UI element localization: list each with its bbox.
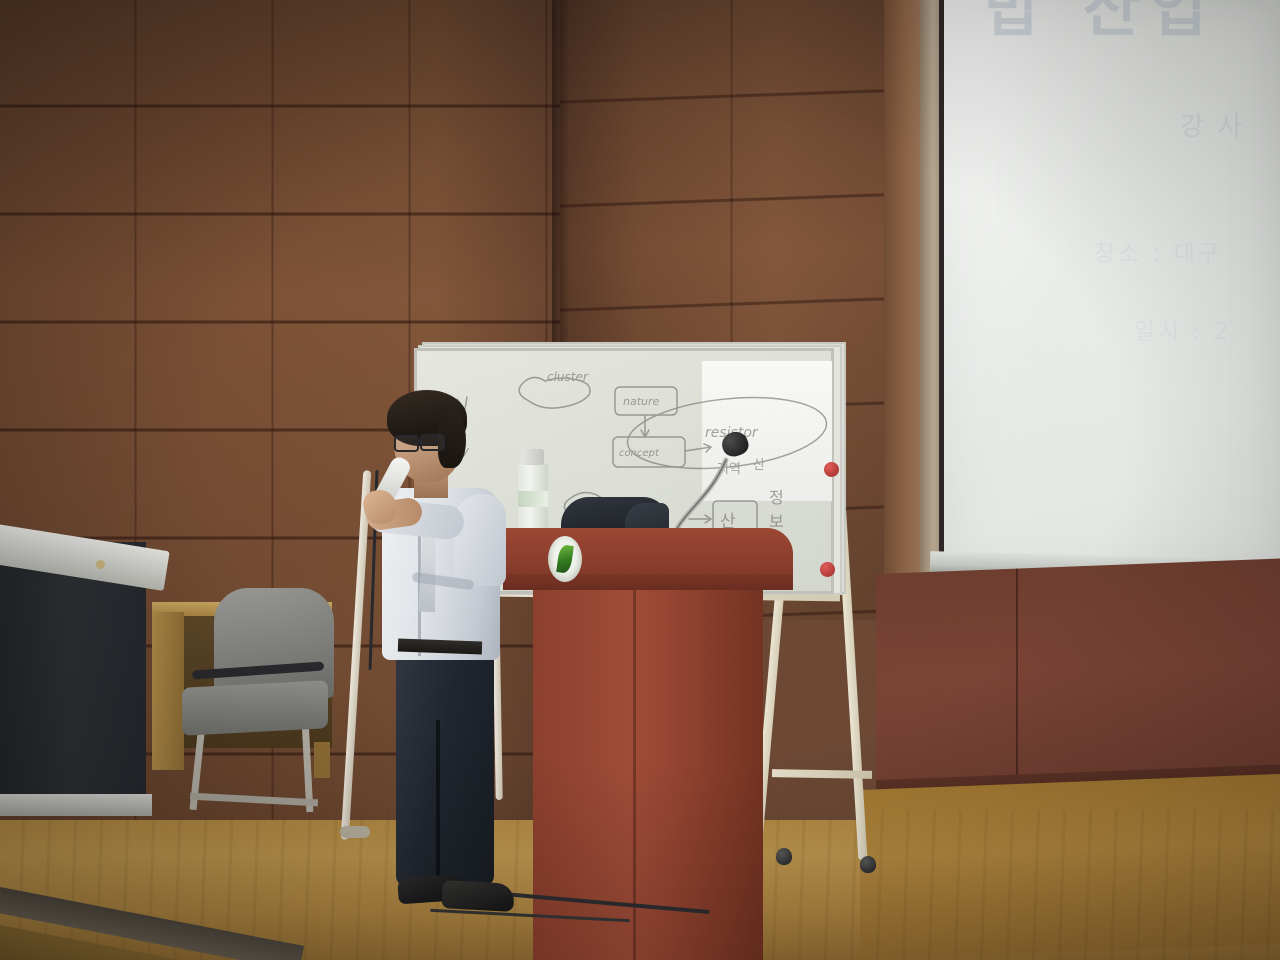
chair-foot-rail — [190, 793, 318, 807]
eyeglasses-lens-left — [394, 435, 419, 452]
slide-title: 밥 산업 — [984, 0, 1280, 48]
leaf-shape-icon — [556, 544, 574, 574]
easel-knob-lower[interactable] — [820, 562, 835, 577]
lectern-base — [0, 794, 152, 816]
speaker-trousers — [396, 648, 494, 886]
easel-caster-right — [860, 856, 876, 873]
screen-glare — [944, 0, 1280, 578]
speaker-leg-separation — [436, 720, 440, 888]
projection-screen: 밥 산업 강 사 장소 : 대구 일시 : 2 — [944, 0, 1280, 578]
speaker-presenter — [358, 390, 558, 930]
svg-text:정: 정 — [769, 488, 784, 507]
speaker-shoe-right — [441, 880, 514, 912]
gray-upholstered-chair — [186, 588, 346, 806]
table-side-panel — [152, 612, 184, 770]
svg-text:cluster: cluster — [547, 370, 589, 384]
slide-date-line: 일시 : 2 — [1134, 312, 1231, 346]
dark-control-lectern — [0, 522, 174, 818]
slide-speaker-line: 강 사 — [1180, 106, 1245, 143]
eyeglasses-lens-right — [420, 434, 445, 451]
lectern-knob — [96, 560, 105, 569]
speaker-shirt-shoulder — [454, 494, 506, 586]
chair-seat — [182, 680, 328, 736]
wall-panel-seam — [1016, 569, 1018, 799]
eyeglasses-bridge — [418, 440, 423, 443]
svg-text:nature: nature — [623, 395, 660, 408]
lecture-hall-photo: 밥 산업 강 사 장소 : 대구 일시 : 2 — [0, 0, 1280, 960]
slide-place-line: 장소 : 대구 — [1094, 234, 1222, 268]
easel-knob-upper[interactable] — [824, 462, 839, 477]
